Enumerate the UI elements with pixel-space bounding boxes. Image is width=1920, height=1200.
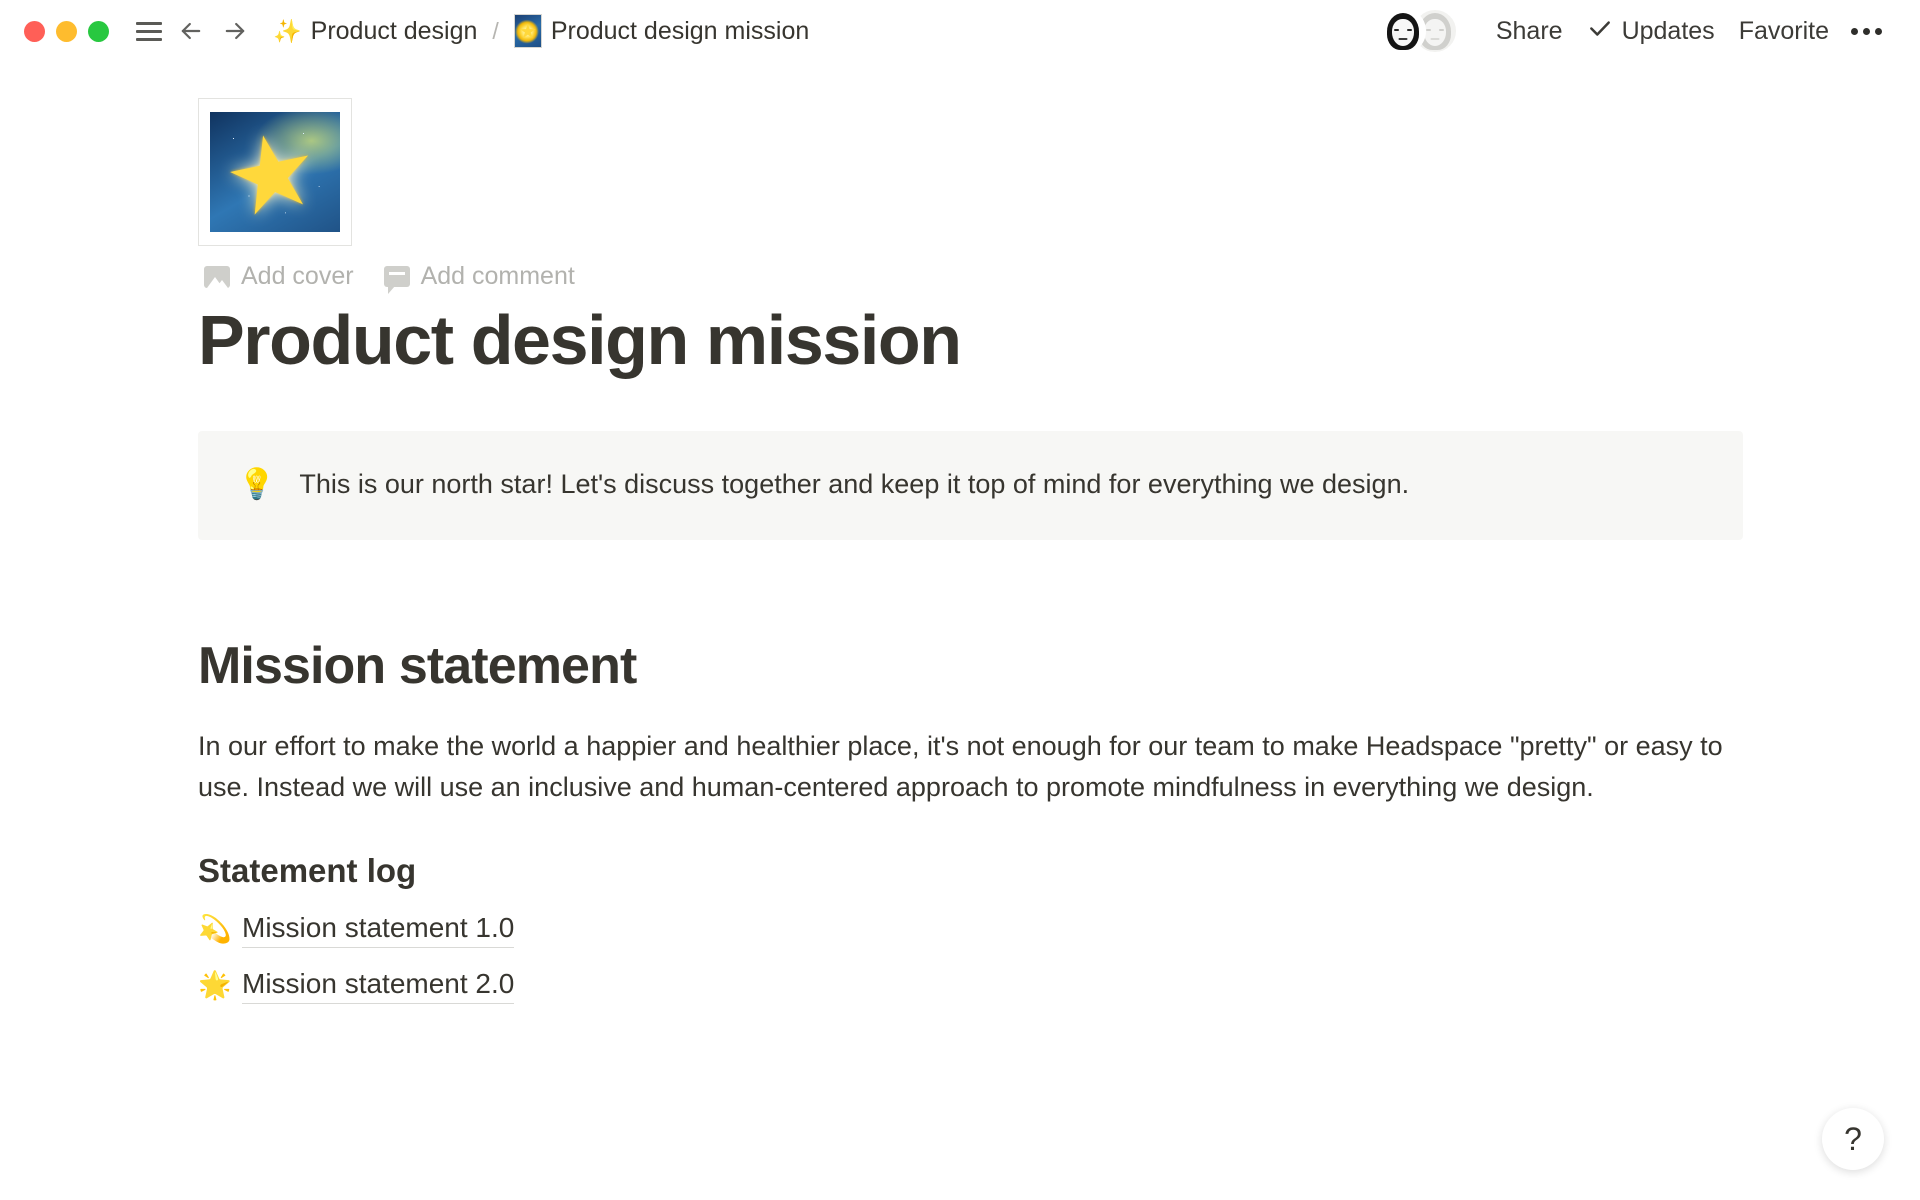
page-body: Add cover Add comment Product design mis… [0,62,1920,1004]
breadcrumb-parent-label: Product design [311,17,478,46]
hamburger-icon[interactable] [131,13,167,49]
page-content: Add cover Add comment Product design mis… [198,98,1743,1004]
updates-label: Updates [1622,17,1715,46]
image-icon [204,266,230,288]
page-link[interactable]: Mission statement 2.0 [242,968,514,1004]
page-title[interactable]: Product design mission [198,301,1743,379]
window-traffic-lights [24,21,109,42]
collaborator-avatars[interactable] [1380,8,1458,54]
callout-text: This is our north star! Let's discuss to… [299,465,1409,504]
section-body[interactable]: In our effort to make the world a happie… [198,726,1738,808]
share-button[interactable]: Share [1484,11,1575,52]
breadcrumb: ✨ Product design / Product design missio… [267,10,815,52]
avatar[interactable] [1380,8,1426,54]
add-cover-label: Add cover [241,262,354,291]
page-link[interactable]: Mission statement 1.0 [242,912,514,948]
maximize-window-button[interactable] [88,21,109,42]
page-meta-actions: Add cover Add comment [204,262,1743,291]
subsection-heading[interactable]: Statement log [198,852,1743,890]
favorite-label: Favorite [1739,17,1829,46]
dizzy-star-icon: 💫 [198,916,230,943]
add-comment-button[interactable]: Add comment [384,262,575,291]
titlebar-actions: Share Updates Favorite [1380,8,1892,54]
shooting-star-icon [210,112,340,232]
add-comment-label: Add comment [421,262,575,291]
section-heading[interactable]: Mission statement [198,636,1743,696]
breadcrumb-item-current[interactable]: Product design mission [508,10,815,52]
app-window: ✨ Product design / Product design missio… [0,0,1920,1200]
breadcrumb-item-parent[interactable]: ✨ Product design [267,13,483,50]
shooting-star-icon [514,14,542,48]
page-icon[interactable] [198,98,352,246]
minimize-window-button[interactable] [56,21,77,42]
arrow-left-icon[interactable] [173,13,209,49]
ellipsis-icon[interactable] [1841,18,1892,45]
favorite-button[interactable]: Favorite [1727,11,1841,52]
updates-button[interactable]: Updates [1575,9,1727,54]
add-cover-button[interactable]: Add cover [204,262,354,291]
navigation-arrows [173,13,253,49]
lightbulb-icon: 💡 [238,465,275,506]
arrow-right-icon[interactable] [217,13,253,49]
breadcrumb-separator: / [492,18,498,45]
close-window-button[interactable] [24,21,45,42]
list-item[interactable]: 💫 Mission statement 1.0 [198,912,1743,948]
titlebar: ✨ Product design / Product design missio… [0,0,1920,62]
check-icon [1587,15,1613,48]
share-label: Share [1496,17,1563,46]
help-button[interactable]: ? [1822,1108,1884,1170]
list-item[interactable]: 🌟 Mission statement 2.0 [198,968,1743,1004]
callout-block[interactable]: 💡 This is our north star! Let's discuss … [198,431,1743,540]
avatar-face [1382,10,1424,52]
sparkles-icon: ✨ [273,20,302,43]
glowing-star-icon: 🌟 [198,972,230,999]
breadcrumb-current-label: Product design mission [551,17,809,46]
comment-icon [384,266,410,287]
